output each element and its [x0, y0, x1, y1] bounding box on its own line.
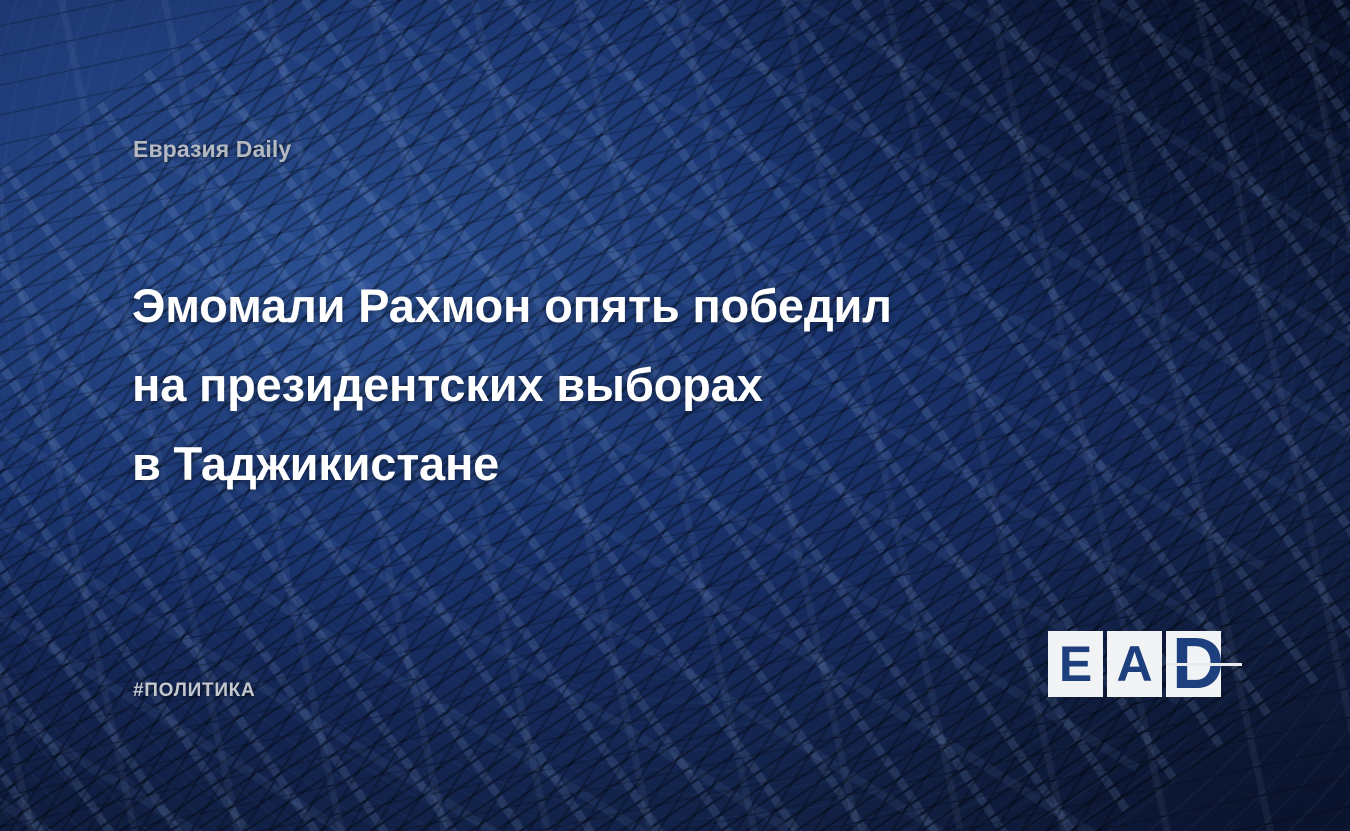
- eadaily-logo[interactable]: E A D: [1048, 631, 1228, 697]
- logo-tile-d: D: [1166, 631, 1221, 697]
- brand-label: Евразия Daily: [133, 136, 291, 163]
- logo-letter-a-icon: A: [1116, 639, 1152, 689]
- page-title: Эмомали Рахмон опять победил на президен…: [132, 266, 1062, 503]
- logo-tile-seam: [1166, 663, 1242, 666]
- headline-line-1: Эмомали Рахмон опять победил: [132, 266, 1062, 345]
- card-content: Евразия Daily Эмомали Рахмон опять побед…: [0, 0, 1350, 831]
- news-share-card: Евразия Daily Эмомали Рахмон опять побед…: [0, 0, 1350, 831]
- category-hashtag[interactable]: #ПОЛИТИКА: [133, 680, 255, 702]
- headline-line-3: в Таджикистане: [132, 424, 1062, 503]
- logo-tile-e: E: [1048, 631, 1103, 697]
- logo-tile-a: A: [1107, 631, 1162, 697]
- headline-line-2: на президентских выборах: [132, 345, 1062, 424]
- logo-letter-e-icon: E: [1059, 639, 1092, 689]
